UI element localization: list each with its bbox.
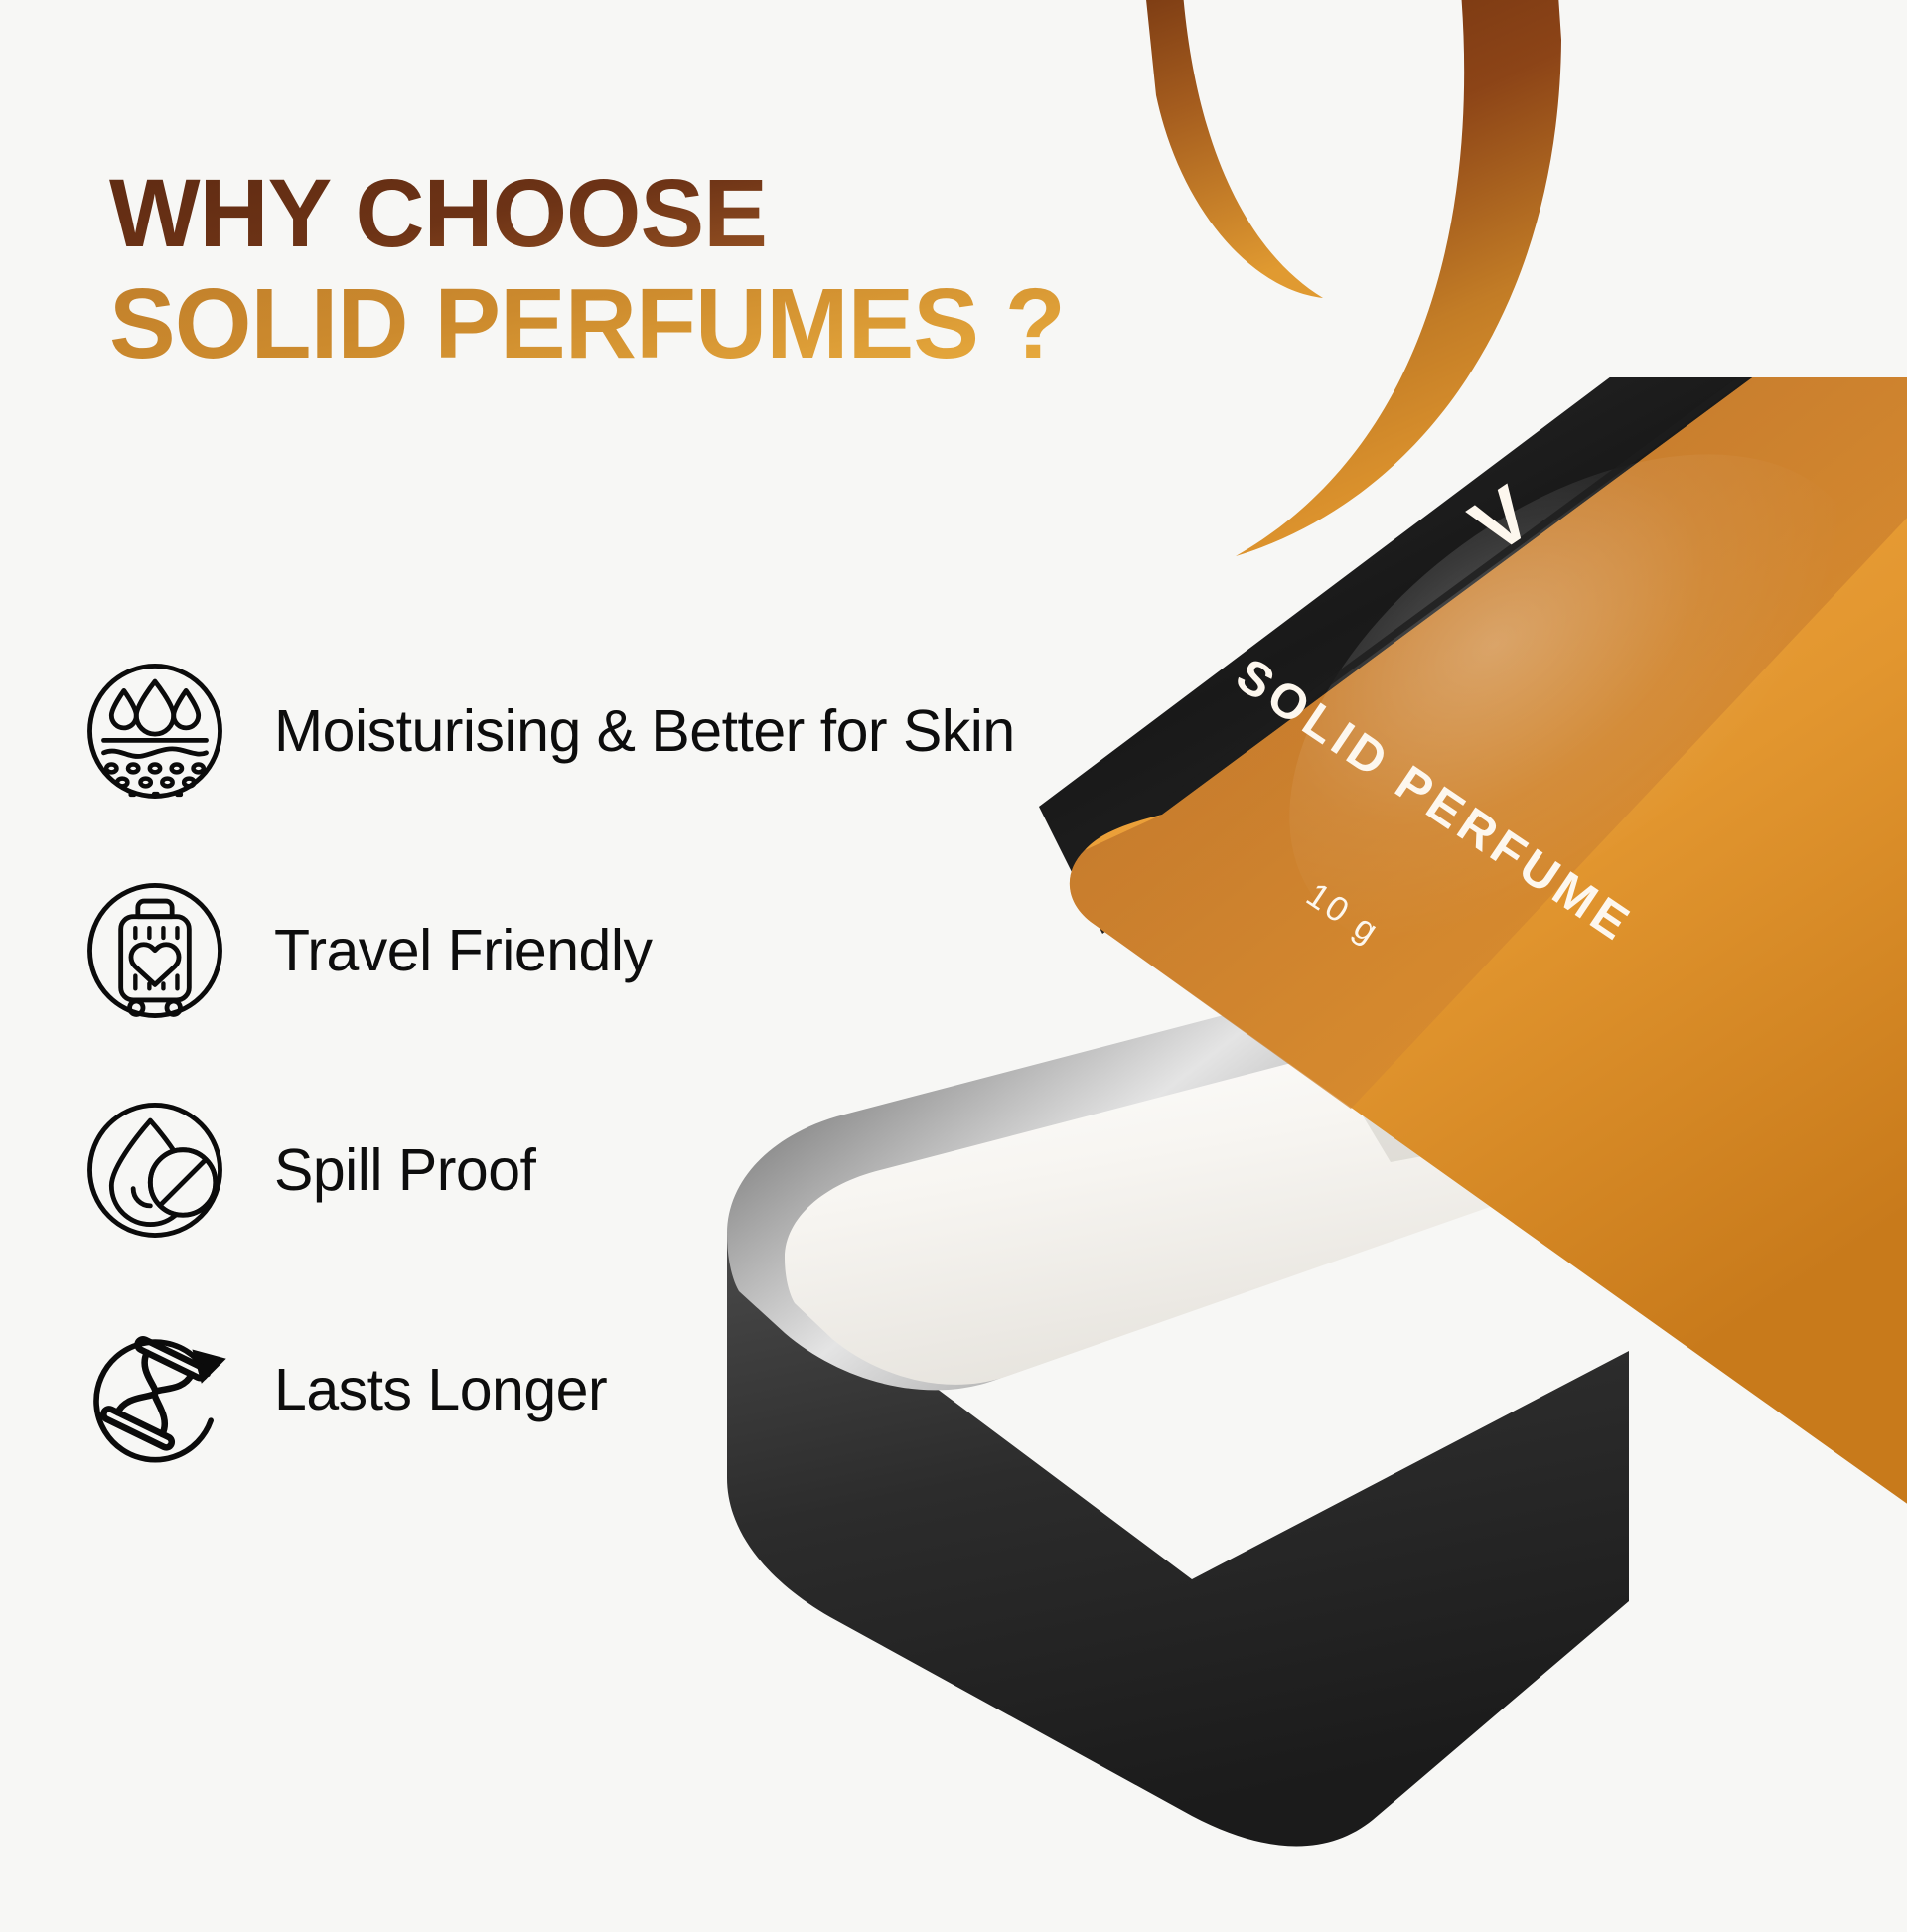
balm-shadow bbox=[1331, 1063, 1573, 1162]
product-weight: 10 g bbox=[1299, 875, 1388, 953]
water-drops-skin-layers-icon bbox=[77, 654, 232, 809]
hourglass-rotate-icon bbox=[77, 1312, 232, 1467]
lid-outline bbox=[1152, 377, 1907, 813]
benefit-item-spill-proof: Spill Proof bbox=[77, 1083, 1249, 1257]
benefit-label-travel: Travel Friendly bbox=[274, 917, 652, 984]
product-brand-partial: V bbox=[1455, 465, 1553, 572]
page-title: WHY CHOOSE SOLID PERFUMES ? bbox=[109, 159, 1301, 380]
droplet-prohibited-icon bbox=[77, 1093, 232, 1248]
benefit-label-spill-proof: Spill Proof bbox=[274, 1136, 535, 1204]
suitcase-heart-icon bbox=[77, 873, 232, 1028]
benefit-item-moisturising: Moisturising & Better for Skin bbox=[77, 644, 1249, 817]
benefit-item-travel: Travel Friendly bbox=[77, 863, 1249, 1037]
heading-line-2: SOLID PERFUMES ? bbox=[109, 268, 1301, 380]
benefits-list: Moisturising & Better for Skin bbox=[77, 644, 1249, 1522]
benefit-item-lasts-longer: Lasts Longer bbox=[77, 1302, 1249, 1476]
heading-line-1: WHY CHOOSE bbox=[109, 159, 1301, 268]
benefit-label-moisturising: Moisturising & Better for Skin bbox=[274, 697, 1015, 765]
lid-gloss bbox=[1197, 377, 1907, 1059]
benefit-label-lasts-longer: Lasts Longer bbox=[274, 1356, 607, 1423]
product-label-line: SOLID PERFUME bbox=[1226, 648, 1642, 954]
